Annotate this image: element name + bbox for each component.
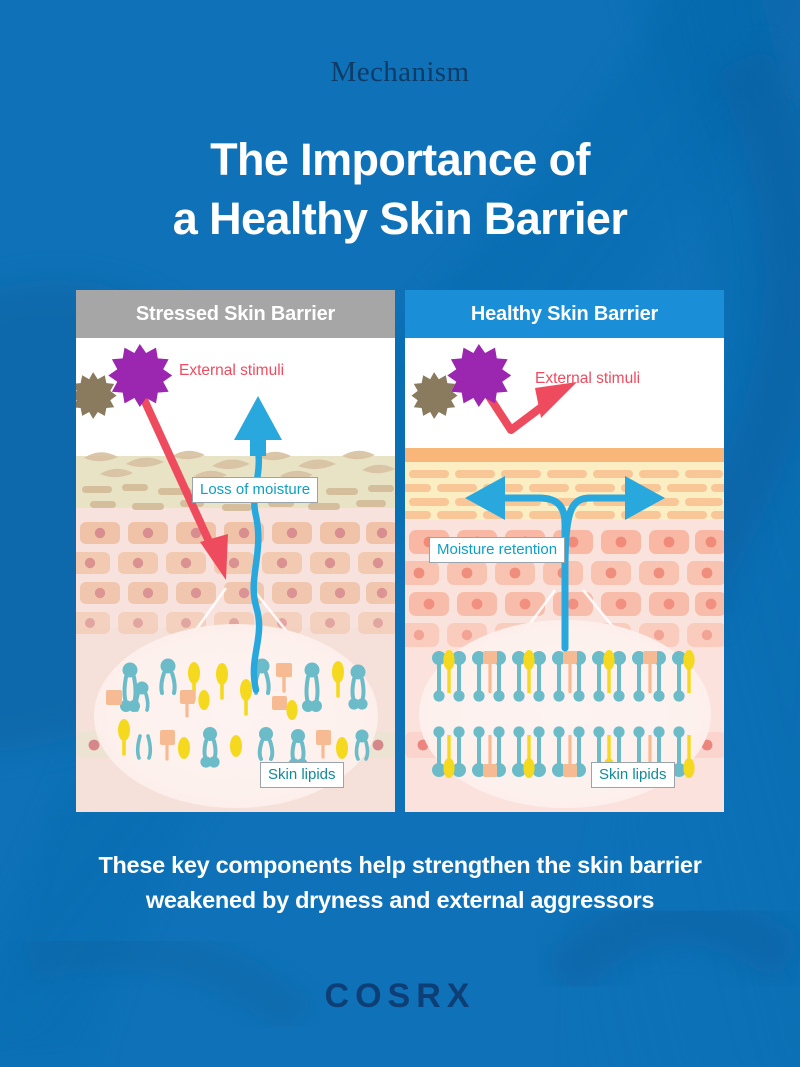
label-external-stimuli-healthy: External stimuli [535,370,640,388]
comparison-panels: Stressed Skin Barrier [76,290,724,812]
panel-healthy-skin-barrier: Healthy Skin Barrier [405,290,724,812]
panel-stressed-body: External stimuli Loss of moisture Skin l… [76,338,395,812]
panel-healthy-header: Healthy Skin Barrier [405,290,724,338]
stressed-skin-diagram [76,338,395,812]
label-loss-of-moisture: Loss of moisture [192,477,318,503]
footer-caption: These key components help strengthen the… [0,848,800,919]
label-skin-lipids-healthy: Skin lipids [591,762,675,788]
page-title: The Importance of a Healthy Skin Barrier [0,130,800,249]
infographic-page: Mechanism The Importance of a Healthy Sk… [0,0,800,1067]
page-title-line1: The Importance of [0,130,800,189]
brand-logo-cosrx: COSRX [0,977,800,1016]
label-external-stimuli-stressed: External stimuli [179,362,284,380]
panel-stressed-skin-barrier: Stressed Skin Barrier [76,290,395,812]
healthy-skin-diagram [405,338,724,812]
footer-line1: These key components help strengthen the… [0,848,800,883]
page-title-line2: a Healthy Skin Barrier [0,189,800,248]
panel-healthy-body: External stimuli Moisture retention Skin… [405,338,724,812]
label-skin-lipids-stressed: Skin lipids [260,762,344,788]
eyebrow-label: Mechanism [0,56,800,89]
panel-stressed-header: Stressed Skin Barrier [76,290,395,338]
label-moisture-retention: Moisture retention [429,537,565,563]
footer-line2: weakened by dryness and external aggress… [0,883,800,918]
